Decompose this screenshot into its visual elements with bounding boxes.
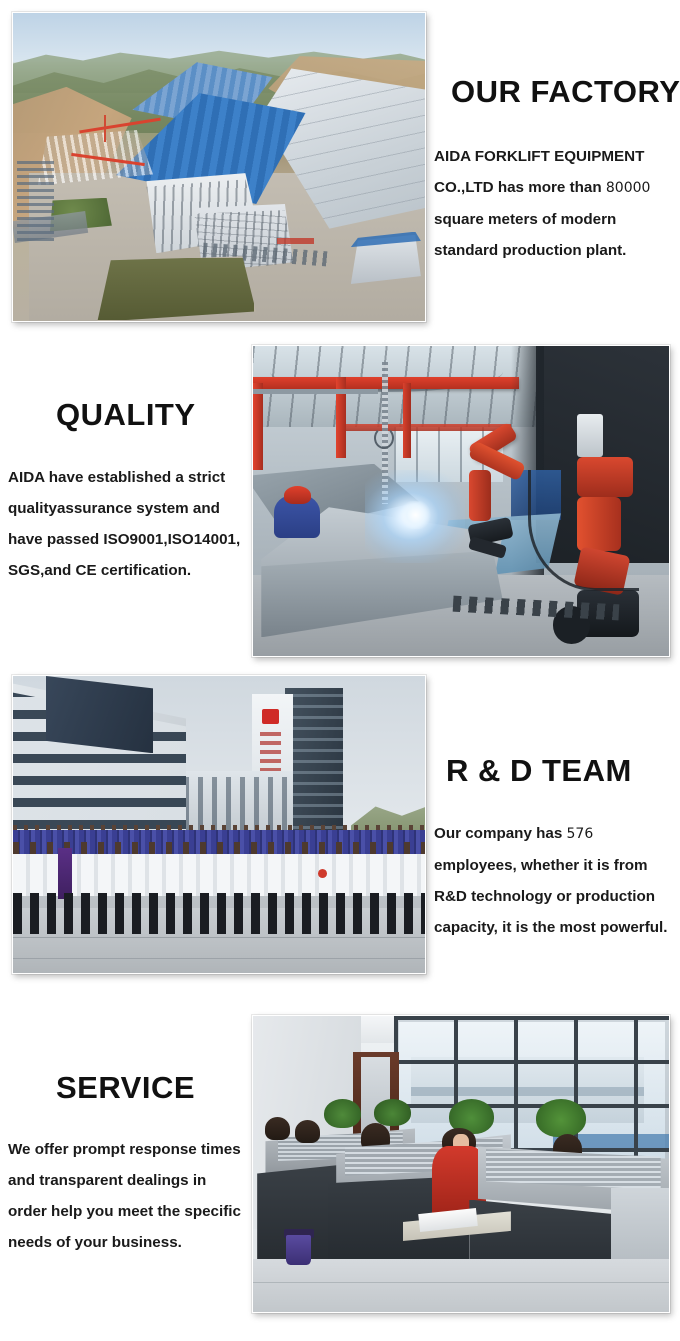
left-building-glass-facade	[46, 676, 153, 753]
employee-4	[265, 1117, 290, 1141]
rd-team-body-text: Our company has 576 employees, whether i…	[434, 818, 670, 943]
office-photo-content	[253, 1016, 669, 1312]
team-photo-content	[13, 676, 425, 973]
factory-heading: OUR FACTORY	[451, 76, 680, 109]
red-hard-hat	[318, 869, 327, 878]
floor-seam	[253, 1282, 669, 1283]
factory-body-after: square meters of modern standard product…	[434, 211, 626, 259]
parked-vehicles-left	[17, 161, 54, 241]
front-row-white-shirts	[13, 854, 425, 896]
crane-rail	[253, 389, 378, 394]
hoist-hook	[374, 427, 395, 450]
retention-pond	[87, 256, 256, 321]
dark-tower-windows	[285, 694, 343, 837]
team-group-photo	[12, 675, 426, 974]
service-heading: SERVICE	[56, 1072, 195, 1105]
welding-photo-content	[253, 346, 669, 656]
quality-body-text: AIDA have established a strict qualityas…	[8, 462, 248, 586]
welding-arc-core	[399, 501, 432, 529]
quality-heading: QUALITY	[56, 399, 196, 432]
company-logo-mark	[262, 709, 278, 724]
waste-bin	[286, 1235, 311, 1265]
ground-seam-1	[13, 937, 425, 938]
employee-5	[295, 1120, 320, 1144]
ground-seam-2	[13, 958, 425, 959]
robot-2-controller	[577, 414, 603, 457]
employee-count-value: 576	[567, 826, 594, 842]
factory-aerial-photo	[12, 12, 426, 322]
rd-body-after: employees, whether it is from R&D techno…	[434, 857, 668, 936]
red-column-2	[403, 383, 411, 457]
desk-plant-1	[324, 1099, 361, 1129]
factory-area-value: 80000	[606, 180, 651, 196]
company-profile-page: OUR FACTORY AIDA FORKLIFT EQUIPMENT CO.,…	[0, 0, 680, 1341]
desk-plant-4	[536, 1099, 586, 1137]
front-row-trousers	[13, 893, 425, 935]
red-column-3	[253, 383, 263, 470]
tower-crane-mast	[104, 115, 106, 143]
office-floor	[253, 1259, 669, 1312]
service-body-text: We offer prompt response times and trans…	[8, 1134, 248, 1258]
rd-body-before: Our company has	[434, 825, 567, 842]
welder-red-helmet	[284, 486, 311, 505]
robot-1-torch-cable	[468, 537, 507, 560]
red-factory-sign	[277, 238, 314, 244]
rd-team-heading: R & D TEAM	[446, 755, 632, 788]
robot-1-base-column	[469, 470, 491, 521]
overhead-crane-beam-rear	[345, 424, 511, 432]
welding-workshop-photo	[252, 345, 670, 657]
factory-body-text: AIDA FORKLIFT EQUIPMENT CO.,LTD has more…	[434, 141, 668, 266]
person-purple-uniform	[58, 848, 72, 898]
office-workstations-photo	[252, 1015, 670, 1313]
desk-plant-2	[374, 1099, 411, 1126]
factory-photo-content	[13, 13, 425, 321]
